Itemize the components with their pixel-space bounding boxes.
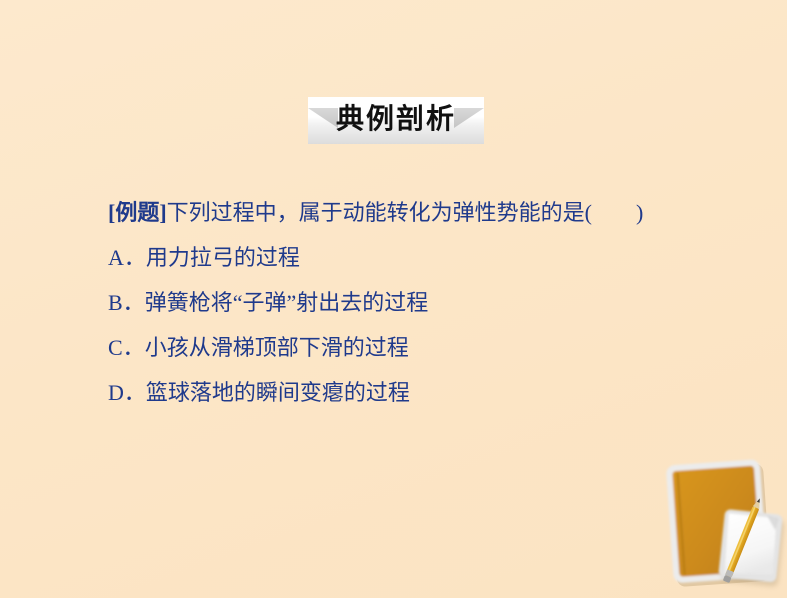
option-b-tag: B． — [108, 280, 145, 325]
option-c-text: 小孩从滑梯顶部下滑的过程 — [145, 335, 409, 360]
option-d: D．篮球落地的瞬间变瘪的过程 — [108, 370, 748, 415]
section-title-banner: 典例剖析 — [308, 97, 484, 144]
option-a-text: 用力拉弓的过程 — [146, 245, 300, 270]
section-title-text: 典例剖析 — [336, 105, 456, 136]
question-lead-label: [例题] — [108, 200, 167, 225]
option-d-tag: D． — [108, 370, 146, 415]
question-block: [例题]下列过程中，属于动能转化为弹性势能的是( ) A．用力拉弓的过程 B．弹… — [108, 190, 748, 415]
option-a-tag: A． — [108, 235, 146, 280]
slide-canvas: 典例剖析 [例题]下列过程中，属于动能转化为弹性势能的是( ) A．用力拉弓的过… — [0, 0, 787, 598]
option-c-tag: C． — [108, 325, 145, 370]
question-stem-line: [例题]下列过程中，属于动能转化为弹性势能的是( ) — [108, 190, 748, 235]
notebook-and-pencil-icon — [655, 452, 787, 598]
question-stem-text: 下列过程中，属于动能转化为弹性势能的是( ) — [167, 200, 644, 225]
option-b-text: 弹簧枪将“子弹”射出去的过程 — [145, 290, 429, 315]
option-c: C．小孩从滑梯顶部下滑的过程 — [108, 325, 748, 370]
option-a: A．用力拉弓的过程 — [108, 235, 748, 280]
option-d-text: 篮球落地的瞬间变瘪的过程 — [146, 380, 410, 405]
option-b: B．弹簧枪将“子弹”射出去的过程 — [108, 280, 748, 325]
